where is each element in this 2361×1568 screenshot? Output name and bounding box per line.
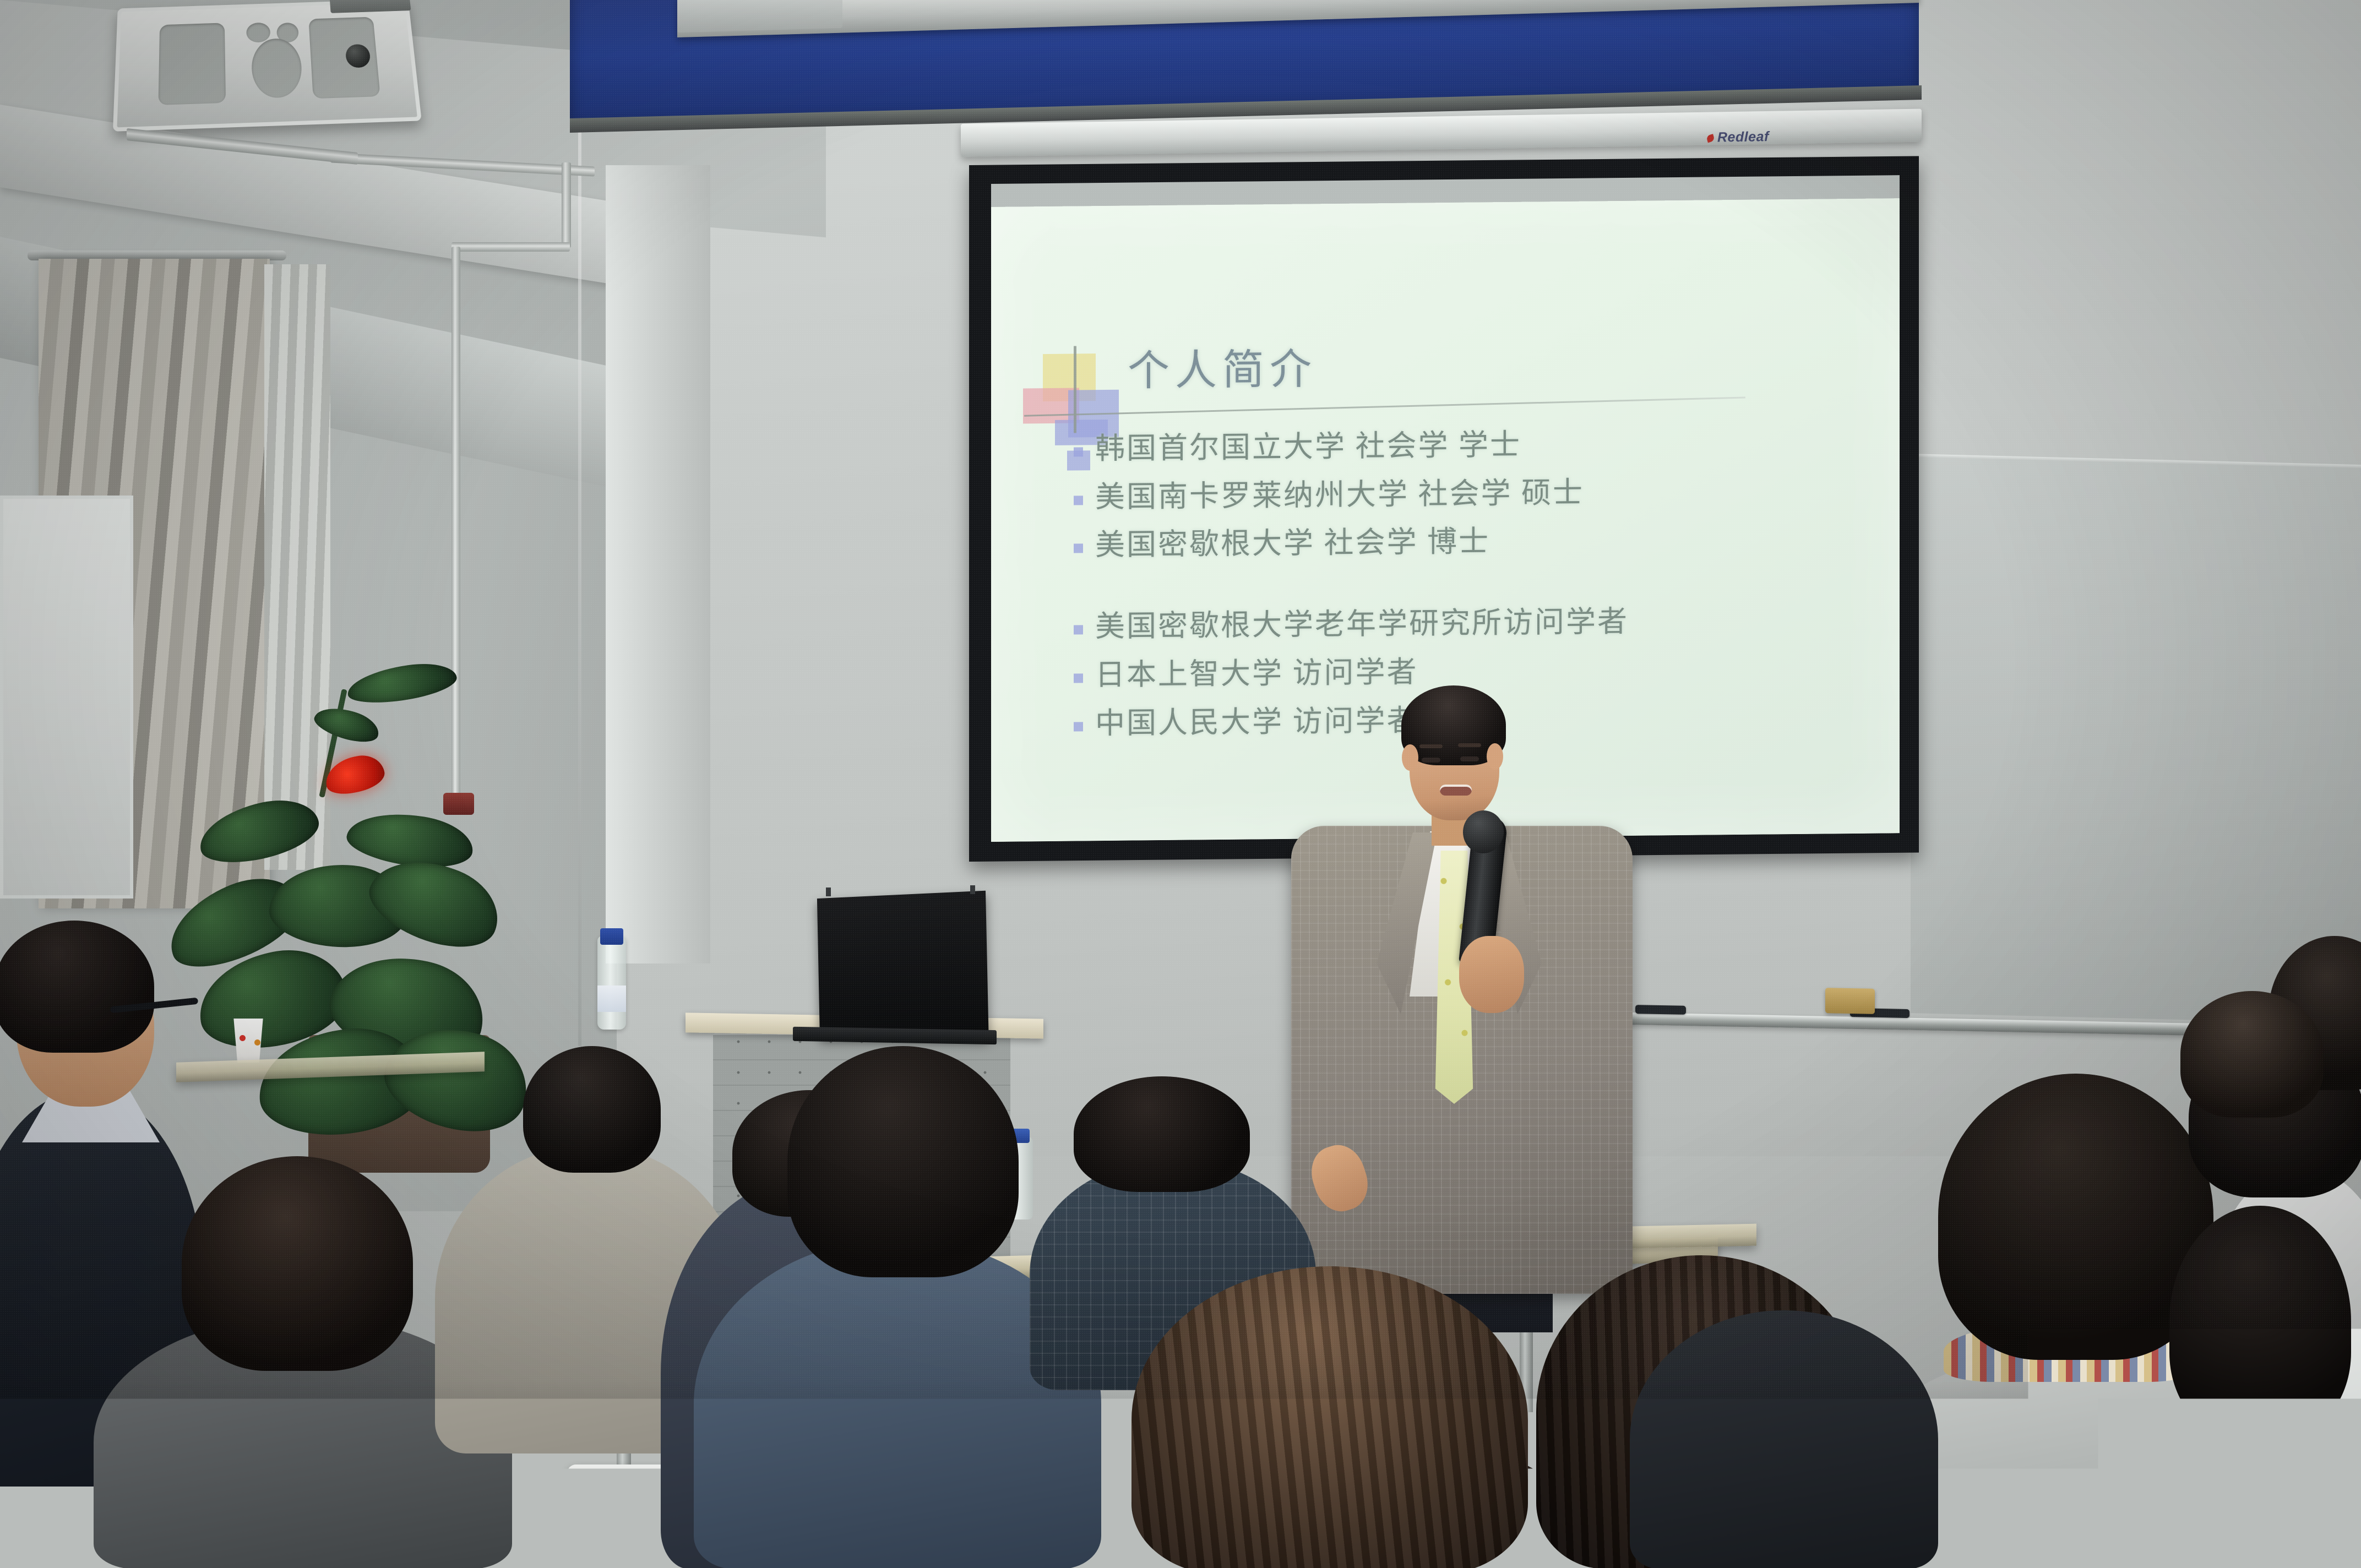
presenter-brow-left: [1419, 744, 1443, 748]
speaker-mount-bracket: [329, 0, 411, 13]
wall-pipe-horizontal: [451, 242, 570, 252]
slide-title: 个人简介: [1128, 335, 1317, 397]
audience-hair: [2180, 991, 2324, 1118]
wall-pipe-vertical-upper: [562, 162, 571, 248]
audience-long-hair: [1131, 1266, 1528, 1568]
laptop-screen[interactable]: [817, 891, 989, 1038]
audience-body: [1630, 1310, 1938, 1568]
screen-brand-label: Redleaf: [1707, 129, 1769, 146]
wall-pillar: [606, 165, 710, 963]
water-bottle-cap: [600, 928, 623, 945]
bullet-marker-icon: [1074, 447, 1083, 456]
water-bottle[interactable]: [597, 936, 626, 1030]
slide-bullet-text: 美国密歇根大学 社会学 博士: [1095, 525, 1490, 564]
lecture-hall-scene: Redleaf 个人简介 韩国首尔国立大学 社会学 学士: [0, 0, 2361, 1568]
laptop-hinge-right: [970, 885, 975, 894]
presenter-eye-right: [1460, 756, 1479, 761]
speaker-driver-left: [159, 23, 226, 105]
audience-hair: [1074, 1076, 1250, 1192]
cup-logo-dot: [240, 1035, 246, 1041]
slide-bullet-text: 韩国首尔国立大学 社会学 学士: [1095, 428, 1521, 467]
ledge-object: [677, 0, 842, 32]
laptop-hinge-left: [826, 888, 831, 896]
whiteboard: [1911, 457, 2361, 1024]
slide-bullet-item: 美国南卡罗莱纳州大学 社会学 硕士: [1074, 473, 1789, 515]
red-leaf-icon: [1706, 134, 1715, 143]
ceiling-speaker: [113, 0, 422, 132]
wall-corner-edge: [578, 0, 581, 1046]
presenter-mouth: [1440, 785, 1472, 796]
screen-brand-text: Redleaf: [1717, 129, 1769, 145]
slide-bullet-text: 美国南卡罗莱纳州大学 社会学 硕士: [1095, 475, 1584, 515]
audience-hair: [0, 921, 154, 1053]
slide-bullet-item: 日本上智大学 访问学者: [1074, 651, 1789, 693]
bullet-marker-icon: [1074, 496, 1083, 505]
speaker-tweeter-a: [246, 23, 270, 43]
bullet-marker-icon: [1074, 722, 1083, 731]
bullet-marker-icon: [1074, 625, 1083, 635]
window: [0, 496, 133, 899]
bullet-marker-icon: [1074, 673, 1083, 683]
slide-title-underline: [1024, 397, 1745, 417]
slide-bullet-item: 美国密歇根大学 社会学 博士: [1074, 522, 1789, 564]
presenter-brow-right: [1458, 743, 1481, 747]
water-bottle-label: [597, 986, 626, 1012]
cup-logo-dot: [254, 1039, 260, 1046]
plant-leaf: [194, 792, 324, 871]
audience-hair: [523, 1046, 661, 1173]
speaker-midrange: [251, 38, 303, 99]
audience-hair: [787, 1046, 1019, 1277]
slide-bullet-item: 美国密歇根大学老年学研究所访问学者: [1074, 603, 1789, 645]
whiteboard-eraser[interactable]: [1825, 988, 1875, 1014]
bullet-marker-icon: [1074, 544, 1083, 553]
presenter-ear-left: [1402, 744, 1418, 771]
slide-bullet-text: 美国密歇根大学老年学研究所访问学者: [1095, 605, 1629, 645]
slide-decoration-logo: [1040, 353, 1117, 431]
presenter-hand-holding-mic: [1459, 936, 1524, 1013]
slide-bullet-text: 中国人民大学 访问学者: [1095, 703, 1418, 741]
audience-hair: [2169, 1206, 2351, 1437]
presenter-ear-right: [1487, 743, 1503, 770]
whiteboard-marker[interactable]: [1635, 1005, 1686, 1015]
logo-vertical-line: [1074, 346, 1076, 433]
presenter-eye-left: [1422, 758, 1440, 763]
plant-leaf: [311, 701, 383, 749]
slide-bullet-text: 日本上智大学 访问学者: [1095, 655, 1418, 693]
slide-bullet-item: 韩国首尔国立大学 社会学 学士: [1074, 425, 1789, 467]
audience-hair: [182, 1156, 413, 1371]
